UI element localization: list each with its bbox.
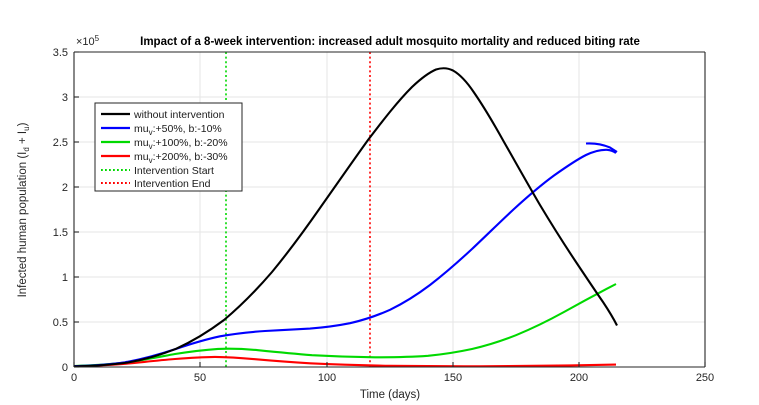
legend-label-intervention-start: Intervention Start (134, 165, 214, 177)
chart-svg: 0 50 100 150 200 250 0 0.5 1 1.5 2 2.5 3… (0, 0, 759, 405)
y-tick-label-2: 2 (62, 182, 68, 194)
y-axis-title-mid: + I (17, 131, 29, 147)
figure-container: 0 50 100 150 200 250 0 0.5 1 1.5 2 2.5 3… (0, 0, 759, 405)
y-tick-label-1.5: 1.5 (53, 227, 68, 239)
y-tick-label-3: 3 (62, 92, 68, 104)
legend-label-muv-50-post: :+50%, b:-10% (153, 123, 222, 135)
y-tick-label-2.5: 2.5 (53, 137, 68, 149)
legend-label-muv-100: muv:+100%, b:-20% (134, 137, 228, 151)
legend-label-muv-100-post: :+100%, b:-20% (153, 137, 228, 149)
y-tick-label-0.5: 0.5 (53, 317, 68, 329)
x-tick-label-250: 250 (696, 372, 714, 384)
y-axis-exponent-base: ×10 (76, 36, 95, 48)
y-axis-title-suffix: ) (17, 122, 29, 126)
legend-label-muv-50: muv:+50%, b:-10% (134, 123, 222, 137)
x-axis-title: Time (days) (360, 389, 420, 401)
x-tick-label-100: 100 (318, 372, 336, 384)
y-tick-label-0: 0 (62, 362, 68, 374)
y-tick-label-1: 1 (62, 272, 68, 284)
legend-label-muv-200-pre: mu (134, 151, 149, 163)
legend-label-muv-200-post: :+200%, b:-30% (153, 151, 228, 163)
legend-label-muv-100-pre: mu (134, 137, 149, 149)
chart-legend[interactable]: without intervention muv:+50%, b:-10% mu… (95, 103, 242, 191)
x-tick-label-0: 0 (71, 372, 77, 384)
y-axis-exponent: ×105 (76, 34, 100, 48)
y-axis-exponent-power: 5 (95, 34, 100, 43)
legend-label-muv-50-pre: mu (134, 123, 149, 135)
x-tick-label-200: 200 (570, 372, 588, 384)
legend-label-muv-200: muv:+200%, b:-30% (134, 151, 228, 165)
y-tick-label-3.5: 3.5 (53, 47, 68, 59)
legend-label-intervention-end: Intervention End (134, 178, 211, 190)
y-axis-title: Infected human population (Id + Iu) (17, 122, 31, 297)
x-tick-label-50: 50 (194, 372, 206, 384)
x-tick-label-150: 150 (444, 372, 462, 384)
plot-background (74, 52, 705, 367)
page-title: Impact of a 8-week intervention: increas… (140, 36, 640, 48)
legend-label-without-intervention: without intervention (133, 109, 225, 121)
y-axis-title-prefix: Infected human population (I (17, 152, 29, 298)
